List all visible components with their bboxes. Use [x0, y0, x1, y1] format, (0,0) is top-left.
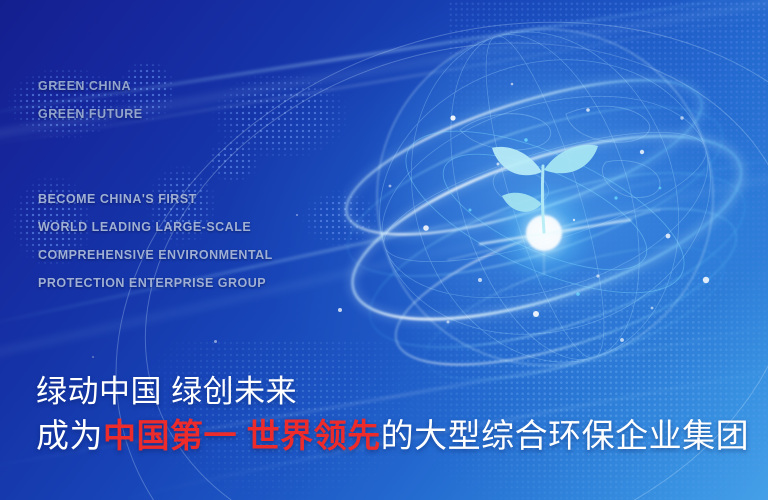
tagline-line-green-future: GREEN FUTURE: [38, 100, 143, 128]
headline-primary: 绿动中国 绿创未来: [36, 371, 749, 413]
green-sprout-icon: [492, 145, 598, 232]
mission-line-2: WORLD LEADING LARGE-SCALE: [38, 213, 273, 241]
particle: [214, 340, 217, 343]
headline-secondary-accent: 中国第一 世界领先: [103, 417, 381, 454]
mission-line-4: PROTECTION ENTERPRISE GROUP: [38, 269, 273, 297]
tagline-line-green-china: GREEN CHINA: [38, 72, 143, 100]
headline-secondary: 成为中国第一 世界领先的大型综合环保企业集团: [36, 414, 749, 458]
headline-secondary-prefix: 成为: [36, 417, 103, 454]
hero-banner: GREEN CHINA GREEN FUTURE BECOME CHINA'S …: [0, 0, 768, 500]
tagline-mission: BECOME CHINA'S FIRST WORLD LEADING LARGE…: [38, 185, 273, 297]
tagline-top: GREEN CHINA GREEN FUTURE: [38, 72, 143, 128]
particle: [338, 308, 342, 312]
mission-line-1: BECOME CHINA'S FIRST: [38, 185, 273, 213]
particle: [92, 356, 94, 358]
headline-block: 绿动中国 绿创未来 成为中国第一 世界领先的大型综合环保企业集团: [36, 371, 749, 458]
wireframe-globe: [330, 22, 768, 382]
particle: [296, 214, 298, 216]
mission-line-3: COMPREHENSIVE ENVIRONMENTAL: [38, 241, 273, 269]
headline-secondary-suffix: 的大型综合环保企业集团: [381, 417, 750, 454]
halftone-dots-top-right: [448, 0, 768, 290]
